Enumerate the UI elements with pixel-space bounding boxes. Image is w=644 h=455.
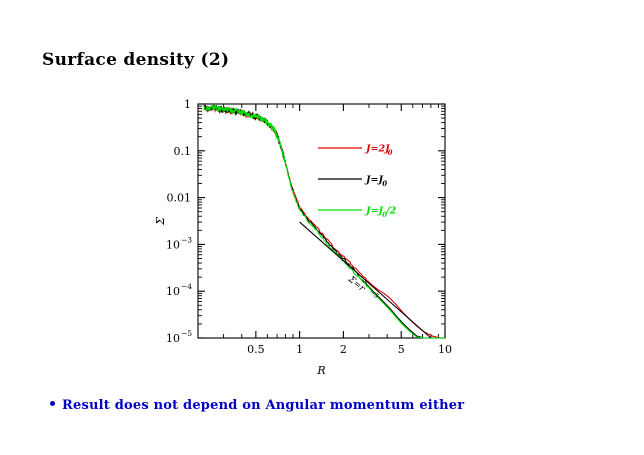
series-J=J0/2 (204, 106, 445, 338)
x-axis-title: R (316, 364, 325, 375)
legend-label-J=2J0: J=2J (364, 144, 390, 155)
svg-text:0.1: 0.1 (174, 145, 192, 158)
series-J=J0 (204, 105, 445, 338)
bullet-dot-icon (50, 401, 55, 406)
svg-text:1: 1 (296, 343, 303, 356)
svg-text:0.5: 0.5 (247, 343, 265, 356)
legend-label-J=J0/2: J=J (364, 206, 383, 217)
svg-text:0.01: 0.01 (167, 192, 192, 205)
slide-canvas: Surface density (2) 10.10.0110−310−410−5… (0, 0, 644, 455)
bullet-item-text: Result does not depend on Angular moment… (62, 398, 464, 413)
x-axis-tick-labels: 0.512510 (247, 343, 452, 356)
surface-density-plot: 10.10.0110−310−410−5 0.512510 Σ=r−5 J=2J… (150, 90, 460, 375)
plot-svg: 10.10.0110−310−410−5 0.512510 Σ=r−5 J=2J… (150, 90, 460, 375)
plot-legend: J=2J0J=J0J=J0/2 (318, 144, 397, 220)
page-title: Surface density (2) (42, 50, 229, 70)
plot-frame (198, 104, 445, 338)
power-law-reference-line (300, 222, 431, 338)
svg-text:1: 1 (184, 98, 191, 111)
legend-label-J=J0: J=J (364, 175, 383, 186)
svg-text:10: 10 (166, 285, 180, 298)
svg-text:10: 10 (438, 343, 452, 356)
svg-text:0: 0 (382, 179, 387, 188)
y-axis-tick-labels: 10.10.0110−310−410−5 (166, 98, 192, 345)
svg-text:5: 5 (398, 343, 405, 356)
bullet-list: Result does not depend on Angular moment… (50, 398, 464, 413)
axis-ticks (198, 104, 445, 338)
svg-text:10: 10 (166, 238, 180, 251)
svg-text:10: 10 (166, 332, 180, 345)
svg-text:2: 2 (340, 343, 347, 356)
svg-text:/2: /2 (385, 206, 396, 217)
series-J=2J0 (204, 106, 445, 338)
data-series-group (204, 105, 445, 338)
svg-text:0: 0 (388, 148, 393, 157)
svg-text:−4: −4 (181, 282, 192, 291)
svg-text:−3: −3 (181, 235, 192, 244)
y-axis-title: Σ (154, 217, 167, 226)
svg-text:−5: −5 (181, 329, 192, 338)
